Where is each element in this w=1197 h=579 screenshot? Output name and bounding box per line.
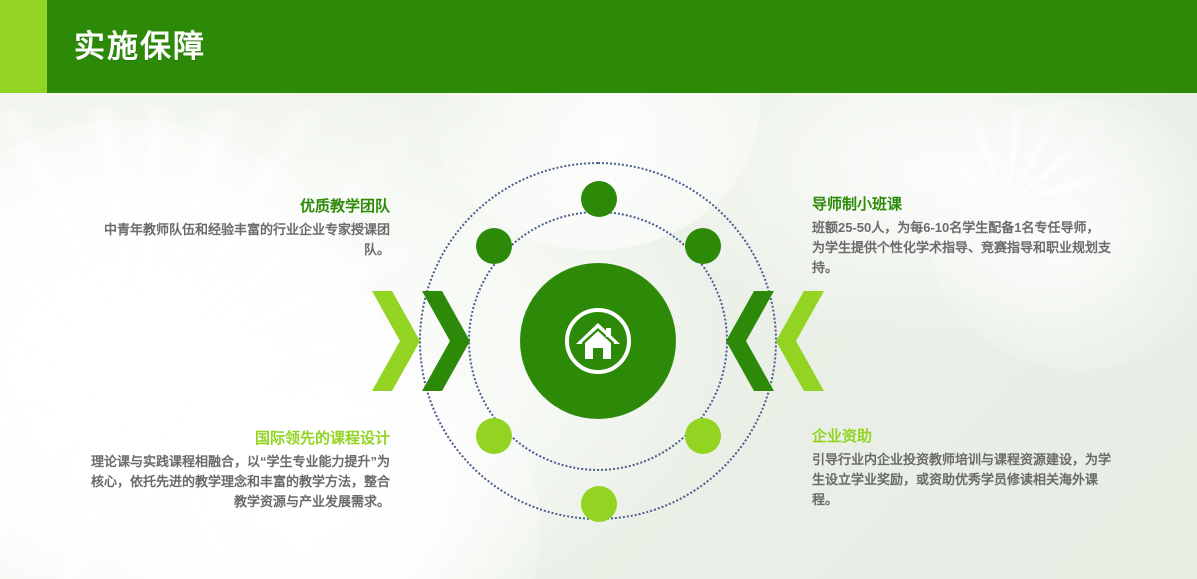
info-block-team: 优质教学团队 中青年教师队伍和经验丰富的行业企业专家授课团队。	[80, 196, 390, 260]
info-block-mentor: 导师制小班课 班额25-50人，为每6-10名学生配备1名专任导师，为学生提供个…	[812, 194, 1112, 278]
info-block-sponsor: 企业资助 引导行业内企业投资教师培训与课程资源建设，为学生设立学业奖励，或资助优…	[812, 426, 1112, 510]
slide-canvas: 实施保障	[0, 0, 1197, 579]
info-block-team-title: 优质教学团队	[80, 196, 390, 217]
info-block-curriculum: 国际领先的课程设计 理论课与实践课程相融合，以“学生专业能力提升”为核心，依托先…	[80, 428, 390, 512]
info-block-curriculum-body: 理论课与实践课程相融合，以“学生专业能力提升”为核心，依托先进的教学理念和丰富的…	[80, 452, 390, 512]
chevron-left-outer-icon	[372, 291, 420, 391]
node-dot-bottom	[581, 486, 617, 522]
info-block-sponsor-title: 企业资助	[812, 426, 1112, 447]
node-dot-top	[581, 181, 617, 217]
header-accent-stripe	[0, 0, 47, 93]
info-block-mentor-body: 班额25-50人，为每6-10名学生配备1名专任导师，为学生提供个性化学术指导、…	[812, 218, 1112, 278]
info-block-mentor-title: 导师制小班课	[812, 194, 1112, 215]
node-dot-lower-left	[476, 418, 512, 454]
chevron-right-inner-icon	[726, 291, 774, 391]
node-dot-lower-right	[685, 418, 721, 454]
header-bar: 实施保障	[0, 0, 1197, 93]
info-block-team-body: 中青年教师队伍和经验丰富的行业企业专家授课团队。	[80, 220, 390, 260]
node-dot-upper-left	[476, 228, 512, 264]
chevron-left-inner-icon	[422, 291, 470, 391]
center-core-circle	[520, 263, 676, 419]
center-diagram	[378, 160, 818, 540]
node-dot-upper-right	[685, 228, 721, 264]
info-block-sponsor-body: 引导行业内企业投资教师培训与课程资源建设，为学生设立学业奖励，或资助优秀学员修读…	[812, 450, 1112, 510]
home-icon	[573, 317, 623, 365]
info-block-curriculum-title: 国际领先的课程设计	[80, 428, 390, 449]
chevron-right-outer-icon	[776, 291, 824, 391]
page-title: 实施保障	[74, 24, 206, 69]
